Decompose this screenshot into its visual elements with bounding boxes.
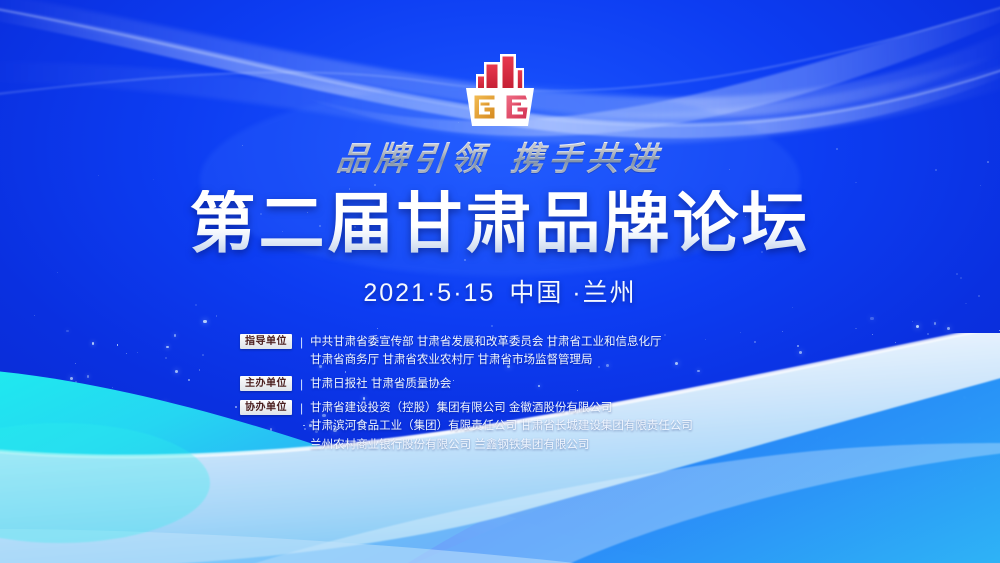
status-badge-coorganizer: 协办单位 [240, 400, 292, 416]
status-badge-guidance: 指导单位 [240, 334, 292, 350]
page-title: 第二届甘肃品牌论坛 [190, 190, 811, 259]
slogan-part-2: 携手共进 [509, 139, 665, 178]
credit-line: 甘肃日报社 甘肃省质量协会 [310, 375, 760, 394]
calligraphy-slogan: 品牌引领携手共进 [334, 132, 665, 180]
credit-divider: | [300, 375, 303, 393]
slogan-part-1: 品牌引领 [335, 139, 491, 178]
credit-row-host: 主办单位 | 甘肃日报社 甘肃省质量协会 [240, 375, 760, 394]
credit-line: 中共甘肃省委宣传部 甘肃省发展和改革委员会 甘肃省工业和信息化厅 [310, 333, 760, 352]
poster-canvas: 品牌引领携手共进 第二届甘肃品牌论坛 2021·5·15中国 ·兰州 指导单位 … [0, 0, 1000, 563]
poster-content: 品牌引领携手共进 第二届甘肃品牌论坛 2021·5·15中国 ·兰州 指导单位 … [0, 0, 1000, 563]
credit-lines-host: 甘肃日报社 甘肃省质量协会 [310, 375, 760, 394]
credit-line: 兰州农村商业银行股份有限公司 兰鑫钢铁集团有限公司 [310, 436, 760, 455]
credit-line: 甘肃滨河食品工业（集团）有限责任公司 甘肃省长城建设集团有限责任公司 [310, 417, 760, 436]
credit-divider: | [300, 333, 303, 351]
credit-line: 甘肃省商务厅 甘肃省农业农村厅 甘肃省市场监督管理局 [310, 351, 760, 370]
gansu-brand-forum-emblem [454, 52, 546, 130]
credit-line: 甘肃省建设投资（控股）集团有限公司 金徽酒股份有限公司 [310, 399, 760, 418]
event-date: 2021·5·15 [363, 279, 495, 307]
credit-row-coorganizer: 协办单位 | 甘肃省建设投资（控股）集团有限公司 金徽酒股份有限公司 甘肃滨河食… [240, 399, 760, 455]
credit-lines-guidance: 中共甘肃省委宣传部 甘肃省发展和改革委员会 甘肃省工业和信息化厅 甘肃省商务厅 … [310, 333, 760, 370]
event-place: 中国 ·兰州 [509, 279, 636, 307]
credit-lines-coorganizer: 甘肃省建设投资（控股）集团有限公司 金徽酒股份有限公司 甘肃滨河食品工业（集团）… [310, 399, 760, 455]
organizer-credits: 指导单位 | 中共甘肃省委宣传部 甘肃省发展和改革委员会 甘肃省工业和信息化厅 … [240, 333, 760, 455]
credit-divider: | [300, 399, 303, 417]
status-badge-host: 主办单位 [240, 376, 292, 392]
date-location-line: 2021·5·15中国 ·兰州 [363, 273, 636, 309]
credit-row-guidance: 指导单位 | 中共甘肃省委宣传部 甘肃省发展和改革委员会 甘肃省工业和信息化厅 … [240, 333, 760, 370]
